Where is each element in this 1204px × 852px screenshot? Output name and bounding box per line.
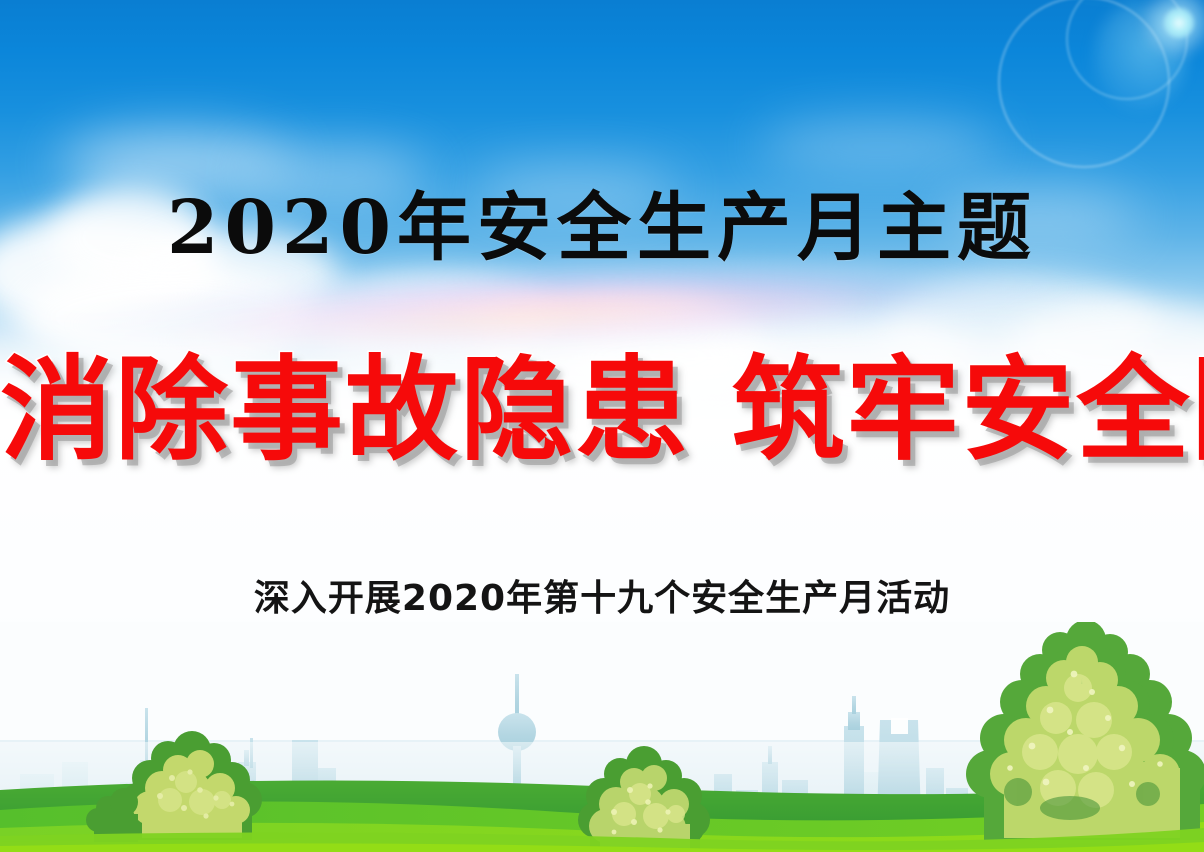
safety-month-poster: 2020年安全生产月主题 消除事故隐患 筑牢安全防线 深入开展2020年第十九个… <box>0 0 1204 852</box>
ground-scene <box>0 622 1204 852</box>
cloud-wisp-4 <box>760 120 1000 172</box>
poster-subtitle: 深入开展2020年第十九个安全生产月活动 <box>0 569 1204 621</box>
poster-title: 2020年安全生产月主题 <box>0 168 1204 275</box>
poster-headline-slogan: 消除事故隐患 筑牢安全防线 <box>0 352 1204 470</box>
